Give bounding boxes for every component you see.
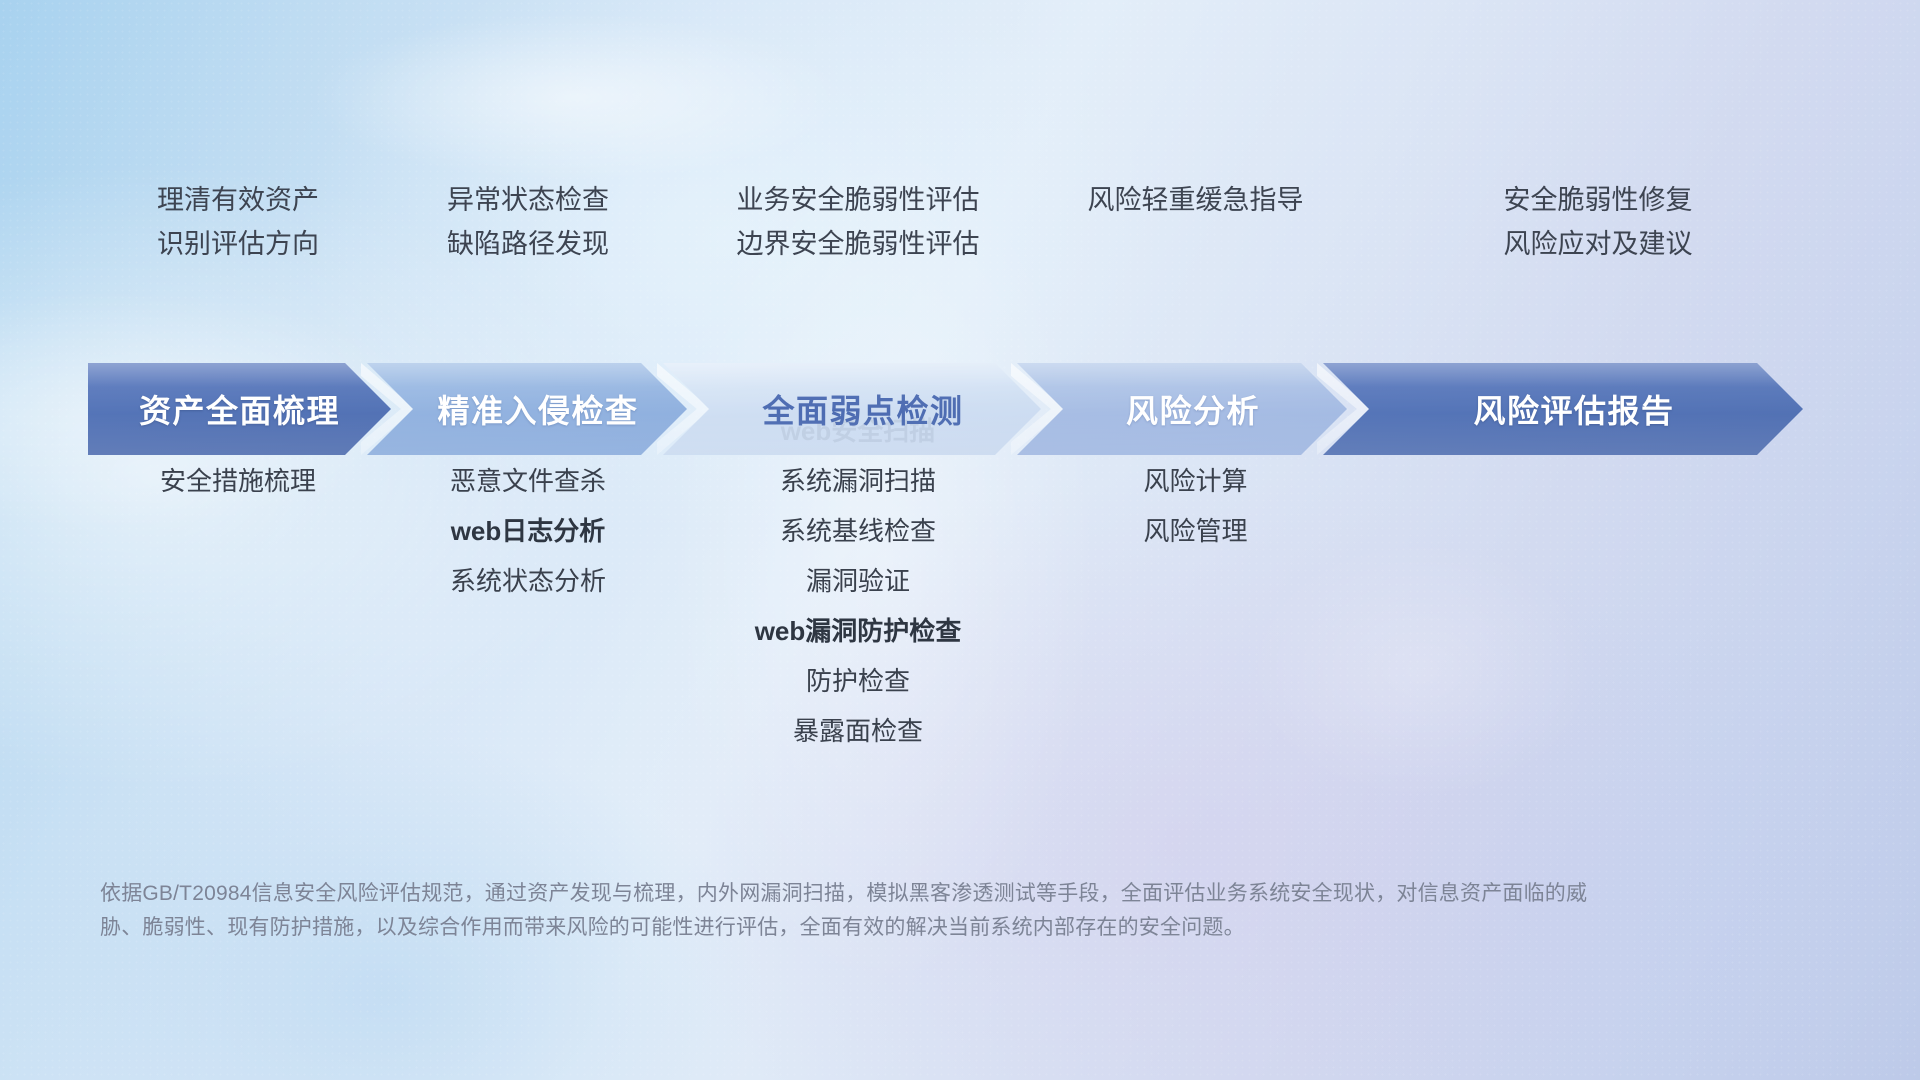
outcome-text: 安全脆弱性修复 bbox=[1504, 182, 1693, 218]
stage-activities-row: 业务系统梳理安全措施梳理webshell检查恶意文件查杀web日志分析系统状态分… bbox=[0, 412, 1920, 712]
slide-canvas: 理清有效资产识别评估方向异常状态检查缺陷路径发现业务安全脆弱性评估边界安全脆弱性… bbox=[0, 0, 1920, 1080]
outcome-text: 识别评估方向 bbox=[157, 226, 319, 262]
activity-item[interactable]: 风险管理 bbox=[1143, 512, 1247, 550]
process-step-label: 精准入侵检查 bbox=[437, 386, 638, 432]
outcome-column-5: 安全脆弱性修复风险应对及建议 bbox=[1343, 182, 1853, 282]
process-chevron-band: 资产全面梳理精准入侵检查全面弱点检测风险分析风险评估报告 bbox=[88, 363, 1853, 455]
process-step-label: 资产全面梳理 bbox=[139, 386, 340, 432]
process-step-label: 风险分析 bbox=[1126, 386, 1260, 432]
activity-item[interactable]: 防护检查 bbox=[806, 662, 910, 700]
activity-item[interactable]: 风险计算 bbox=[1143, 462, 1247, 500]
activity-column-2: webshell检查恶意文件查杀web日志分析系统状态分析 bbox=[363, 412, 693, 712]
activity-item[interactable]: 系统漏洞扫描 bbox=[780, 462, 936, 500]
process-step-label: 全面弱点检测 bbox=[762, 386, 963, 432]
activity-column-4: 已有安全控制措施风险计算风险管理 bbox=[1023, 412, 1368, 712]
activity-column-1: 业务系统梳理安全措施梳理 bbox=[88, 412, 388, 712]
process-step-label: 风险评估报告 bbox=[1473, 386, 1674, 432]
outcome-column-2: 异常状态检查缺陷路径发现 bbox=[363, 182, 693, 282]
activity-item[interactable]: 暴露面检查 bbox=[793, 712, 923, 750]
outcome-text: 风险应对及建议 bbox=[1504, 226, 1693, 262]
outcome-column-3: 业务安全脆弱性评估边界安全脆弱性评估 bbox=[668, 182, 1048, 282]
process-step-4[interactable]: 风险分析 bbox=[1017, 363, 1347, 455]
activity-item[interactable]: 系统基线检查 bbox=[780, 512, 936, 550]
process-step-5[interactable]: 风险评估报告 bbox=[1323, 363, 1803, 455]
activity-item[interactable]: 漏洞验证 bbox=[806, 562, 910, 600]
activity-item[interactable]: web日志分析 bbox=[451, 512, 606, 550]
outcome-column-1: 理清有效资产识别评估方向 bbox=[88, 182, 388, 282]
outcome-text: 边界安全脆弱性评估 bbox=[737, 226, 980, 262]
outcome-text: 缺陷路径发现 bbox=[447, 226, 609, 262]
activity-item[interactable]: web漏洞防护检查 bbox=[755, 612, 962, 650]
activity-item[interactable]: 恶意文件查杀 bbox=[450, 462, 606, 500]
outcome-text: 理清有效资产 bbox=[157, 182, 319, 218]
footer-description: 依据GB/T20984信息安全风险评估规范，通过资产发现与梳理，内外网漏洞扫描，… bbox=[100, 877, 1600, 945]
process-step-1[interactable]: 资产全面梳理 bbox=[88, 363, 391, 455]
footer-paragraph: 依据GB/T20984信息安全风险评估规范，通过资产发现与梳理，内外网漏洞扫描，… bbox=[100, 877, 1600, 945]
process-step-3[interactable]: 全面弱点检测 bbox=[663, 363, 1041, 455]
activity-column-5: 安全风险加固及建议 bbox=[1343, 412, 1853, 712]
outcome-text: 业务安全脆弱性评估 bbox=[737, 182, 980, 218]
activity-item[interactable]: 安全措施梳理 bbox=[160, 462, 316, 500]
outcome-text: 风险轻重缓急指导 bbox=[1088, 182, 1304, 218]
stage-outcomes-row: 理清有效资产识别评估方向异常状态检查缺陷路径发现业务安全脆弱性评估边界安全脆弱性… bbox=[0, 182, 1920, 282]
outcome-text: 异常状态检查 bbox=[447, 182, 609, 218]
activity-column-3: web安全扫描系统漏洞扫描系统基线检查漏洞验证web漏洞防护检查防护检查暴露面检… bbox=[668, 412, 1048, 712]
process-step-2[interactable]: 精准入侵检查 bbox=[367, 363, 687, 455]
outcome-column-4: 风险轻重缓急指导 bbox=[1023, 182, 1368, 282]
activity-item[interactable]: 系统状态分析 bbox=[450, 562, 606, 600]
